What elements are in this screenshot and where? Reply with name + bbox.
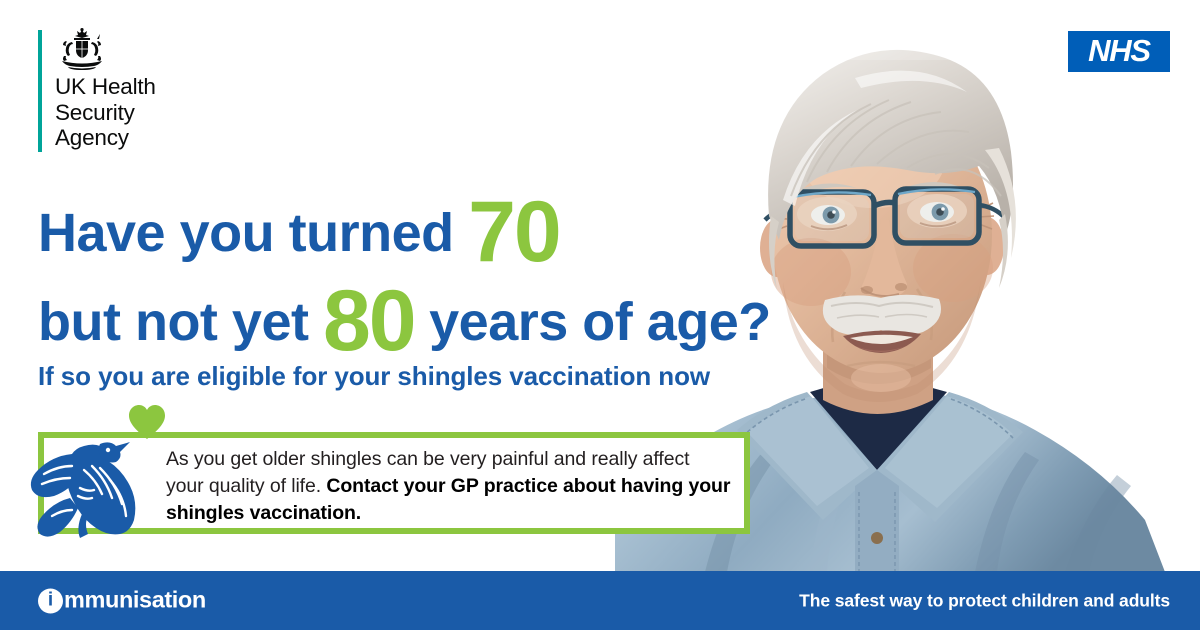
info-circle-icon: i — [38, 588, 63, 613]
footer-tagline: The safest way to protect children and a… — [799, 592, 1170, 610]
footer-bar: i mmunisation The safest way to protect … — [0, 571, 1200, 630]
headline-line-2: but not yet 80 years of age? — [38, 277, 798, 352]
heart-icon — [128, 404, 166, 440]
ukhsa-accent-bar — [38, 30, 42, 152]
royal-coat-of-arms-icon — [56, 28, 108, 72]
ukhsa-logo-text: UK Health Security Agency — [55, 74, 156, 151]
nhs-logo-text: NHS — [1088, 35, 1150, 66]
info-icon-letter: i — [48, 590, 53, 609]
headline-line-1: Have you turned 70 — [38, 188, 798, 263]
nhs-logo: NHS — [1068, 31, 1170, 72]
headline: Have you turned 70 but not yet 80 years … — [38, 188, 798, 352]
headline-age-80: 80 — [323, 273, 415, 369]
ukhsa-logo: UK Health Security Agency — [38, 28, 228, 156]
campaign-poster: UK Health Security Agency NHS Have you t… — [0, 0, 1200, 630]
headline-age-70: 70 — [468, 184, 560, 280]
ukhsa-line-3: Agency — [55, 125, 156, 151]
immunisation-brand: i mmunisation — [38, 588, 206, 613]
ukhsa-line-2: Security — [55, 100, 156, 126]
headline-line-2-text: but not yet — [38, 292, 323, 352]
ukhsa-line-1: UK Health — [55, 74, 156, 100]
immunisation-word: mmunisation — [64, 589, 206, 613]
headline-line-2-suffix: years of age? — [415, 292, 771, 352]
headline-line-1-text: Have you turned — [38, 203, 468, 263]
callout-message: As you get older shingles can be very pa… — [166, 446, 732, 527]
eligibility-subhead: If so you are eligible for your shingles… — [38, 361, 710, 391]
bird-icon — [26, 436, 150, 540]
